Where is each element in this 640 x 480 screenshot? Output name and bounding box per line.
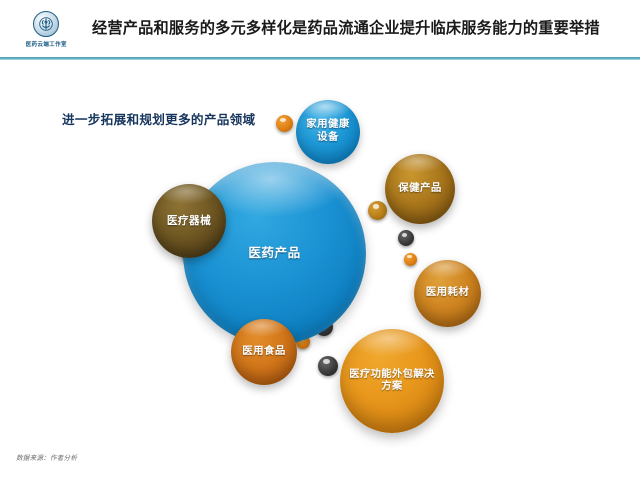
bubble-healthcare-product[interactable]: 保健产品 xyxy=(385,154,455,224)
diagram-callout: 进一步拓展和规划更多的产品领域 xyxy=(62,109,255,128)
accent-dot-dark-right xyxy=(398,230,414,246)
bubble-home-health-device-label: 家用健康设备 xyxy=(296,119,360,144)
bubble-medical-outsourcing-label: 医疗功能外包解决方案 xyxy=(340,369,444,394)
accent-dot-gold-right xyxy=(368,201,387,220)
header-divider xyxy=(0,57,640,60)
accent-dot-orange-top xyxy=(276,115,293,132)
diagram-canvas: 进一步拓展和规划更多的产品领域 医药产品 家用健康设备 保健产品 医用耗材 医疗… xyxy=(0,62,640,442)
bubble-core-label: 医药产品 xyxy=(242,246,306,261)
brand-logo-text: 医药云端工作室 xyxy=(25,39,66,47)
accent-dot-dark-bottom xyxy=(318,356,338,376)
bubble-medical-consumables[interactable]: 医用耗材 xyxy=(414,260,481,327)
emblem-icon xyxy=(33,11,59,37)
page-title: 经营产品和服务的多元多样化是药品流通企业提升临床服务能力的重要举措 xyxy=(92,18,640,40)
bubble-medical-food[interactable]: 医用食品 xyxy=(231,319,297,385)
bubble-medical-food-label: 医用食品 xyxy=(236,346,292,359)
slide-header: 医药云端工作室 经营产品和服务的多元多样化是药品流通企业提升临床服务能力的重要举… xyxy=(0,0,640,58)
bubble-medical-outsourcing[interactable]: 医疗功能外包解决方案 xyxy=(340,329,444,433)
bubble-home-health-device[interactable]: 家用健康设备 xyxy=(296,100,360,164)
bubble-medical-equipment[interactable]: 医疗器械 xyxy=(152,184,226,258)
bubble-medical-consumables-label: 医用耗材 xyxy=(420,287,476,300)
bubble-core-pharma-product[interactable]: 医药产品 xyxy=(183,162,366,345)
brand-logo: 医药云端工作室 xyxy=(0,0,92,58)
accent-dot-orange-right xyxy=(404,253,417,266)
source-note: 数据来源：作者分析 xyxy=(16,452,77,462)
bubble-medical-equipment-label: 医疗器械 xyxy=(161,215,217,228)
bubble-healthcare-product-label: 保健产品 xyxy=(392,183,448,196)
